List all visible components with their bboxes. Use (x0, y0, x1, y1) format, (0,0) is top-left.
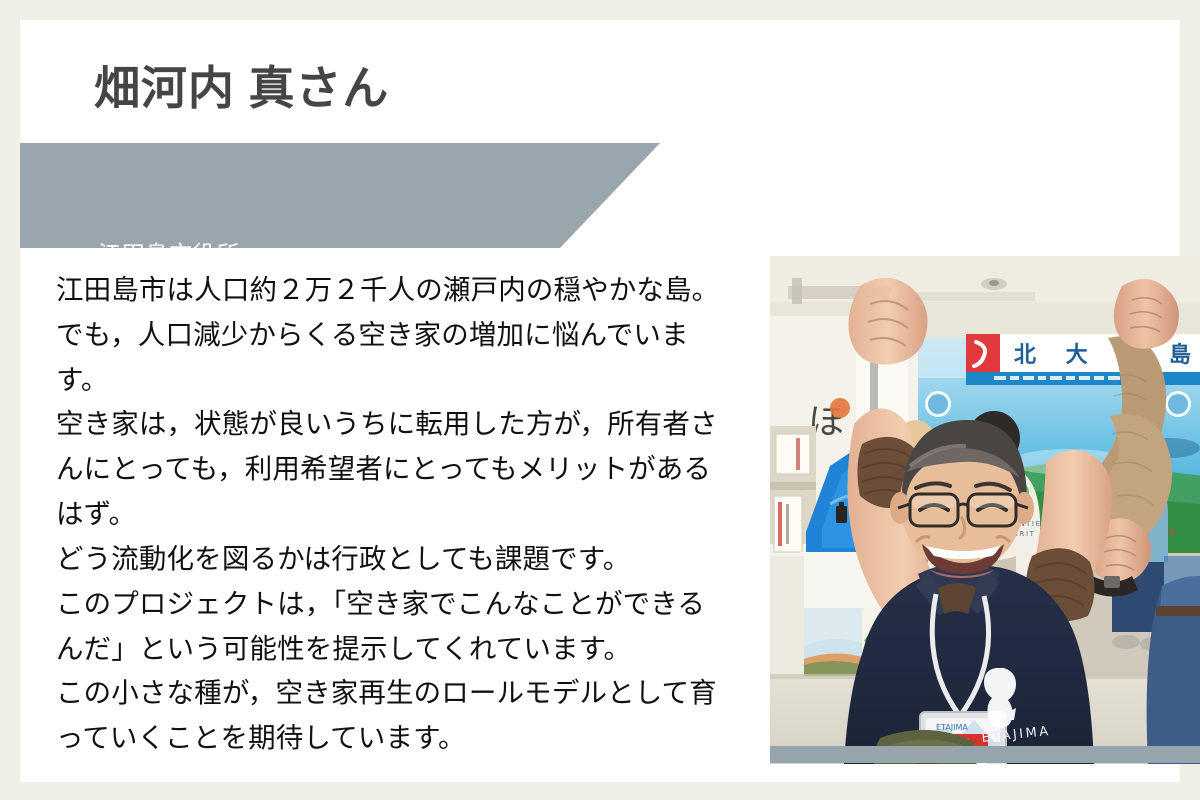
body-line: 空き家は，状態が良いうちに転用した方が，所有者さ (56, 402, 746, 447)
body-line: この小さな種が，空き家再生のロールモデルとして育 (56, 671, 746, 716)
body-line: 江田島市は人口約２万２千人の瀬戸内の穏やかな島。 (56, 268, 746, 313)
body-line: っていくことを期待しています。 (56, 716, 746, 761)
interview-body: 江田島市は人口約２万２千人の瀬戸内の穏やかな島。 でも，人口減少からくる空き家の… (56, 268, 746, 761)
photo-illustration: 北 大 東 島 (770, 256, 1200, 764)
body-line: んにとっても，利用希望者にとってもメリットがある (56, 447, 746, 492)
body-line: でも，人口減少からくる空き家の増加に悩んでいま (56, 313, 746, 358)
svg-text:北 大 東 島: 北 大 東 島 (1014, 342, 1200, 368)
body-line: このプロジェクトは，「空き家でこんなことができる (56, 582, 746, 627)
slide-root: 畑河内 真さん 江田島市役所 企画振興課 課長 江田島市は人口約２万２千人の瀬戸… (0, 0, 1200, 800)
content-card: 畑河内 真さん 江田島市役所 企画振興課 課長 江田島市は人口約２万２千人の瀬戸… (20, 20, 1180, 782)
page-title: 畑河内 真さん (94, 62, 389, 115)
interview-photo: 北 大 東 島 (770, 256, 1200, 764)
body-line: どう流動化を図るかは行政としても課題です。 (56, 537, 746, 582)
body-line: す。 (56, 358, 746, 403)
affiliation-banner: 江田島市役所 企画振興課 課長 (20, 143, 660, 248)
body-line: んだ」という可能性を提示してくれています。 (56, 627, 746, 672)
photo-accent-bar (770, 746, 1200, 763)
svg-text:ETAJIMA: ETAJIMA (936, 723, 968, 732)
body-line: はず。 (56, 492, 746, 537)
